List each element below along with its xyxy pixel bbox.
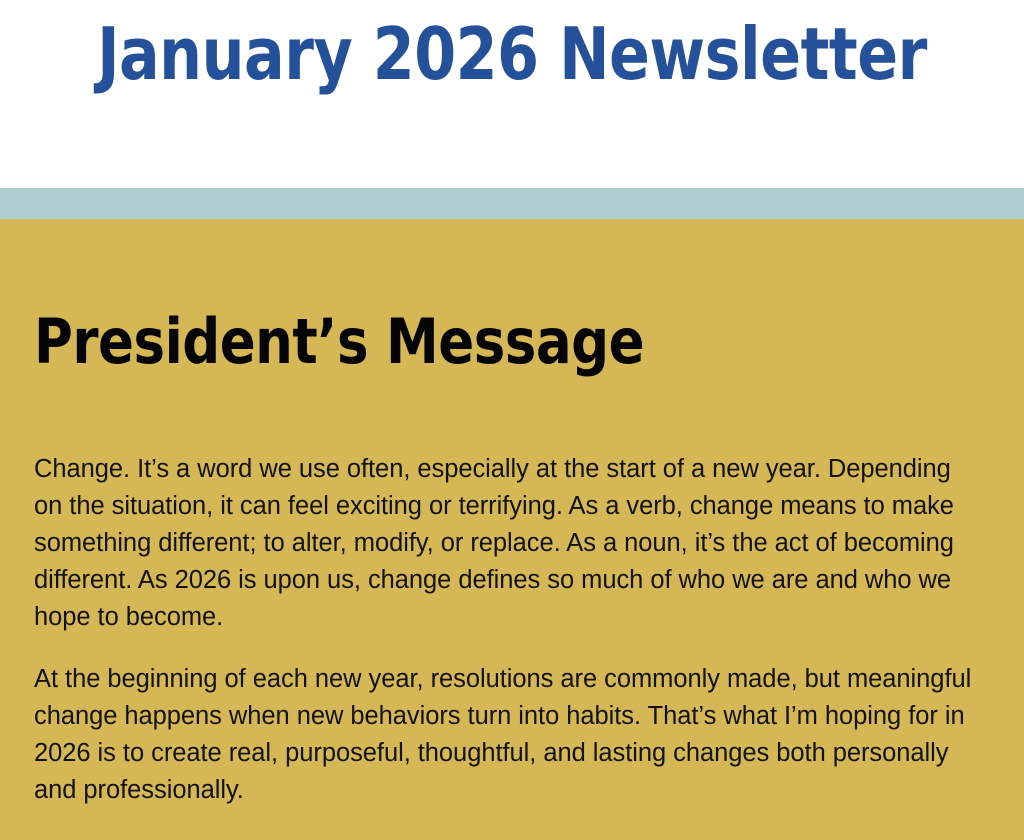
section-heading: President’s Message [34, 219, 935, 373]
body-copy: Change. It’s a word we use often, especi… [34, 451, 982, 809]
content-section: President’s Message Change. It’s a word … [0, 219, 1024, 840]
accent-divider-band [0, 188, 1024, 219]
paragraph: Change. It’s a word we use often, especi… [34, 451, 982, 636]
paragraph: At the beginning of each new year, resol… [34, 661, 982, 809]
newsletter-page: January 2026 Newsletter President’s Mess… [0, 0, 1024, 840]
page-title: January 2026 Newsletter [36, 18, 988, 90]
content-inner: President’s Message Change. It’s a word … [0, 219, 1024, 809]
header-band: January 2026 Newsletter [0, 0, 1024, 188]
